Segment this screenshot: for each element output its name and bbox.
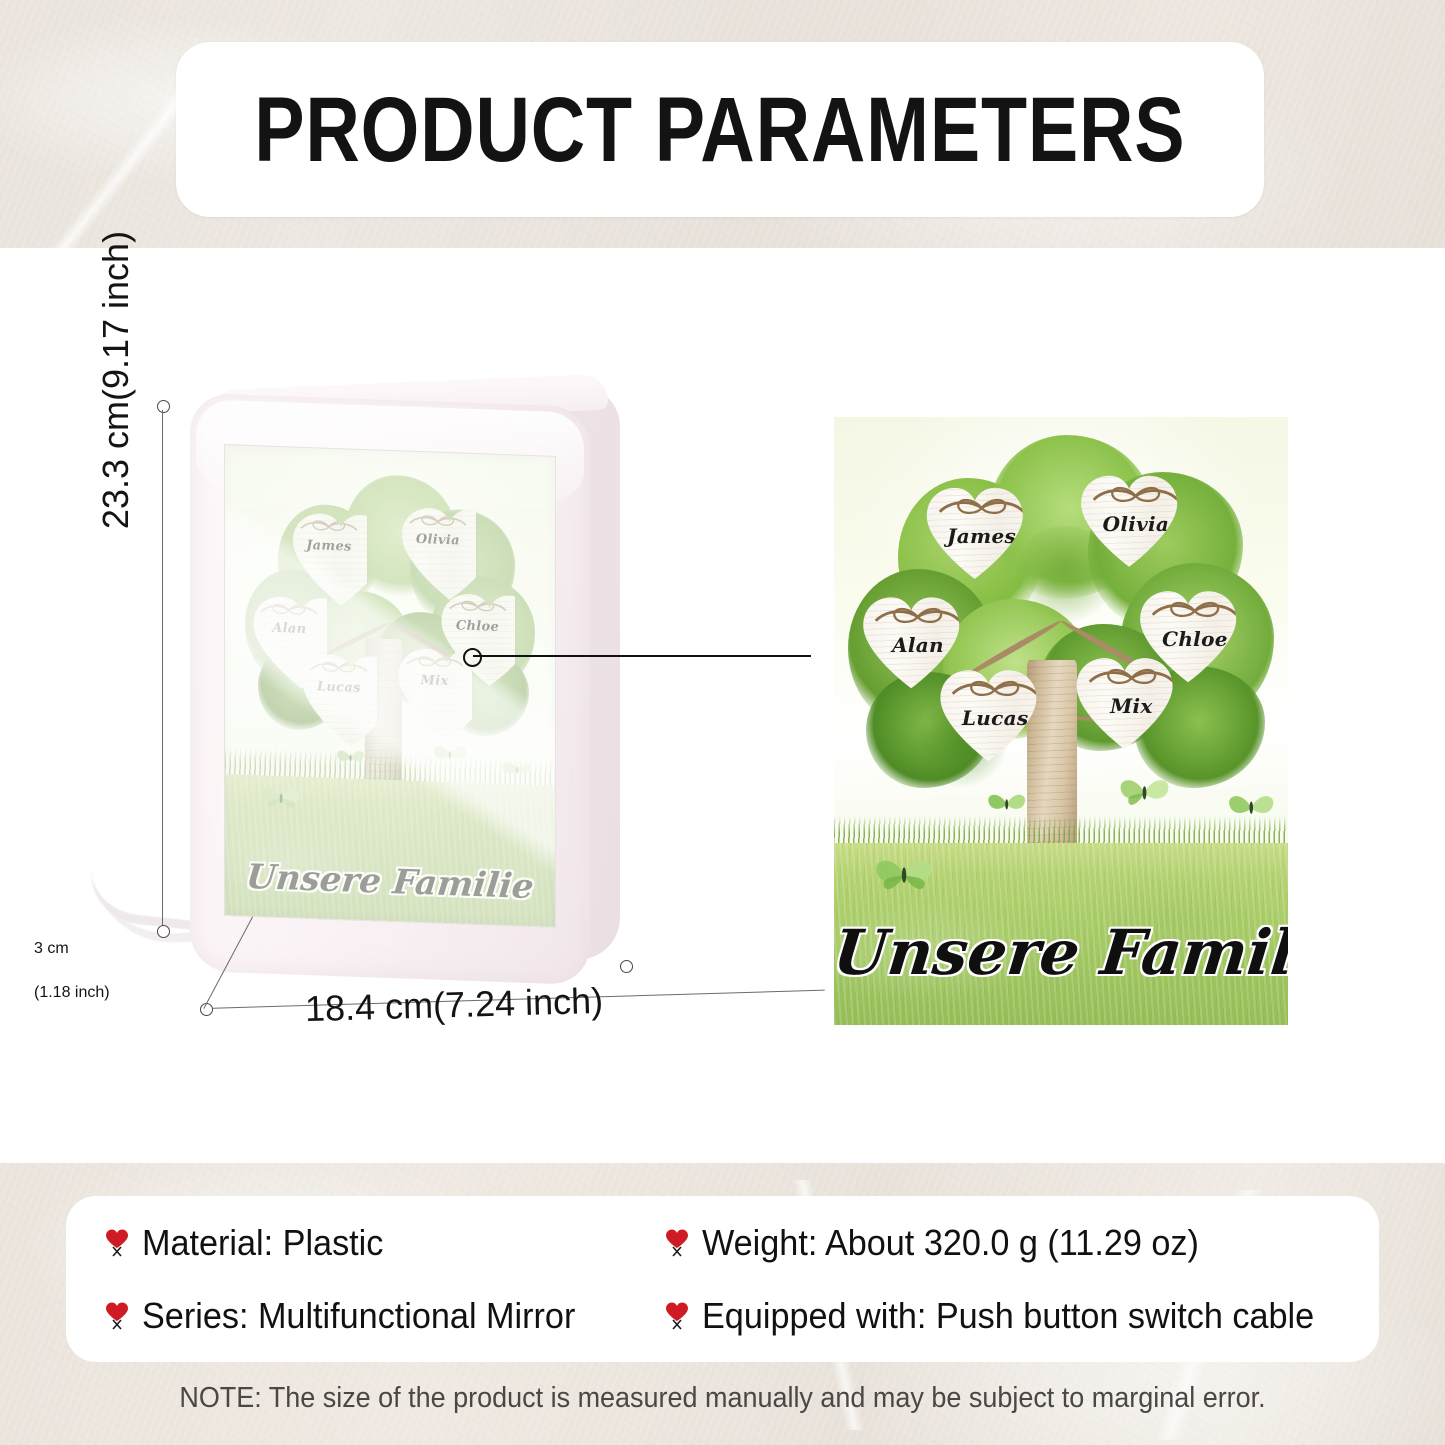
infographic-canvas: PRODUCT PARAMETERS	[0, 0, 1445, 1445]
heart-name-label: Olivia	[400, 533, 476, 549]
butterfly-icon	[1115, 764, 1174, 819]
heart-name-label: Olivia	[1079, 514, 1193, 534]
heart-shape: Mix	[397, 644, 473, 745]
dim-marker-height-bottom	[157, 925, 170, 938]
dim-label-depth-line1: 3 cm	[34, 940, 69, 958]
butterfly-icon	[430, 734, 470, 773]
heart-name-label: Chloe	[440, 619, 516, 635]
butterfly-icon	[1224, 782, 1278, 831]
spec-label: Equipped with: Push button switch cable	[702, 1295, 1314, 1337]
tree-scene-poster: James Olivia	[834, 417, 1288, 1025]
dim-label-width: 18.4 cm(7.24 inch)	[304, 981, 603, 1030]
heart-shape: Lucas	[301, 650, 377, 751]
spec-label: Material: Plastic	[142, 1222, 383, 1264]
heart-name-label: Mix	[1075, 696, 1189, 716]
product-artwork-poster: James Olivia	[834, 417, 1288, 1025]
tree-scene-mirror: James Olivia	[225, 445, 555, 927]
title-card: PRODUCT PARAMETERS	[176, 42, 1264, 217]
heart-bullet-icon	[664, 1301, 690, 1331]
heart-name-label: Lucas	[301, 679, 377, 695]
frame-picture-window: James Olivia	[224, 444, 556, 928]
artwork-script-title: Unsere Familie	[834, 916, 1288, 989]
butterfly-icon	[870, 843, 938, 904]
spec-label: Weight: About 320.0 g (11.29 oz)	[702, 1222, 1199, 1264]
leader-callout-dot	[463, 648, 482, 667]
dim-label-depth-line2: (1.18 inch)	[34, 984, 110, 1002]
page-title: PRODUCT PARAMETERS	[254, 84, 1185, 176]
heart-wood-grain	[397, 644, 473, 745]
spec-item-material: Material: Plastic	[104, 1222, 664, 1264]
heart-name-label: Mix	[397, 674, 473, 690]
heart-bullet-icon	[104, 1301, 130, 1331]
dim-marker-height-top	[157, 400, 170, 413]
heart-name-label: James	[291, 538, 367, 554]
dim-label-height: 23.3 cm(9.17 inch)	[96, 215, 136, 545]
spec-item-series: Series: Multifunctional Mirror	[104, 1295, 664, 1337]
note-text: NOTE: The size of the product is measure…	[51, 1382, 1395, 1415]
butterfly-icon	[334, 740, 367, 774]
heart-tag-lucas: Lucas	[301, 650, 377, 751]
dim-marker-width-right	[620, 960, 633, 973]
specifications-grid: Material: Plastic Weight: About 320.0 g …	[66, 1196, 1379, 1362]
spec-item-weight: Weight: About 320.0 g (11.29 oz)	[664, 1222, 1379, 1264]
butterfly-icon	[499, 751, 535, 788]
heart-name-label: Alan	[251, 621, 327, 637]
heart-name-label: Alan	[861, 635, 975, 655]
butterfly-icon	[258, 775, 304, 819]
leader-callout-line	[473, 655, 811, 657]
product-frame-photo: James Olivia	[150, 372, 670, 992]
spec-label: Series: Multifunctional Mirror	[142, 1295, 575, 1337]
heart-tag-mix: Mix	[397, 644, 473, 745]
heart-name-label: Lucas	[938, 708, 1052, 728]
spec-item-equipped-with: Equipped with: Push button switch cable	[664, 1295, 1379, 1337]
heart-name-label: James	[925, 526, 1039, 546]
butterfly-icon	[984, 782, 1029, 825]
heart-bullet-icon	[104, 1228, 130, 1258]
heart-wood-grain	[301, 650, 377, 751]
mirror-artwork: James Olivia	[225, 445, 555, 927]
specifications-card: Material: Plastic Weight: About 320.0 g …	[66, 1196, 1379, 1362]
heart-bullet-icon	[664, 1228, 690, 1258]
dim-line-height	[162, 410, 163, 930]
heart-name-label: Chloe	[1138, 629, 1252, 649]
